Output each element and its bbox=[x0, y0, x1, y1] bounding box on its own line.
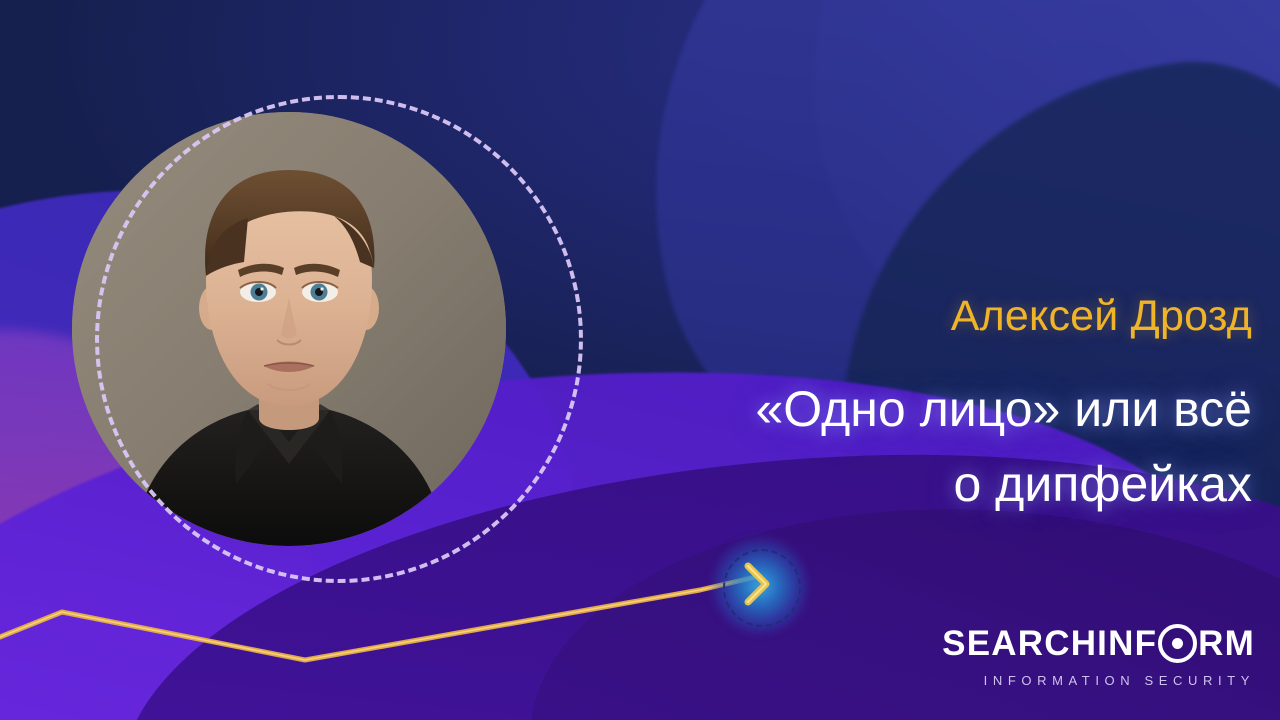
arrow-right-icon bbox=[712, 538, 808, 634]
speaker-name: Алексей Дрозд bbox=[0, 292, 1252, 341]
lens-o-icon bbox=[1158, 624, 1197, 663]
page-title: «Одно лицо» или всё о дипфейках bbox=[0, 372, 1252, 522]
logo-tagline: INFORMATION SECURITY bbox=[925, 673, 1255, 688]
slide-canvas: Алексей Дрозд «Одно лицо» или всё о дипф… bbox=[0, 0, 1280, 720]
title-line-1: «Одно лицо» или всё bbox=[0, 372, 1252, 447]
logo-wordmark: SEARCHINF RM bbox=[925, 624, 1255, 663]
brand-logo: SEARCHINF RM INFORMATION SECURITY bbox=[925, 624, 1255, 688]
accent-glow-target bbox=[712, 538, 808, 634]
logo-word-part-1: SEARCHINF bbox=[942, 626, 1157, 661]
title-line-2: о дипфейках bbox=[0, 447, 1252, 522]
logo-word-part-2: RM bbox=[1198, 626, 1255, 661]
